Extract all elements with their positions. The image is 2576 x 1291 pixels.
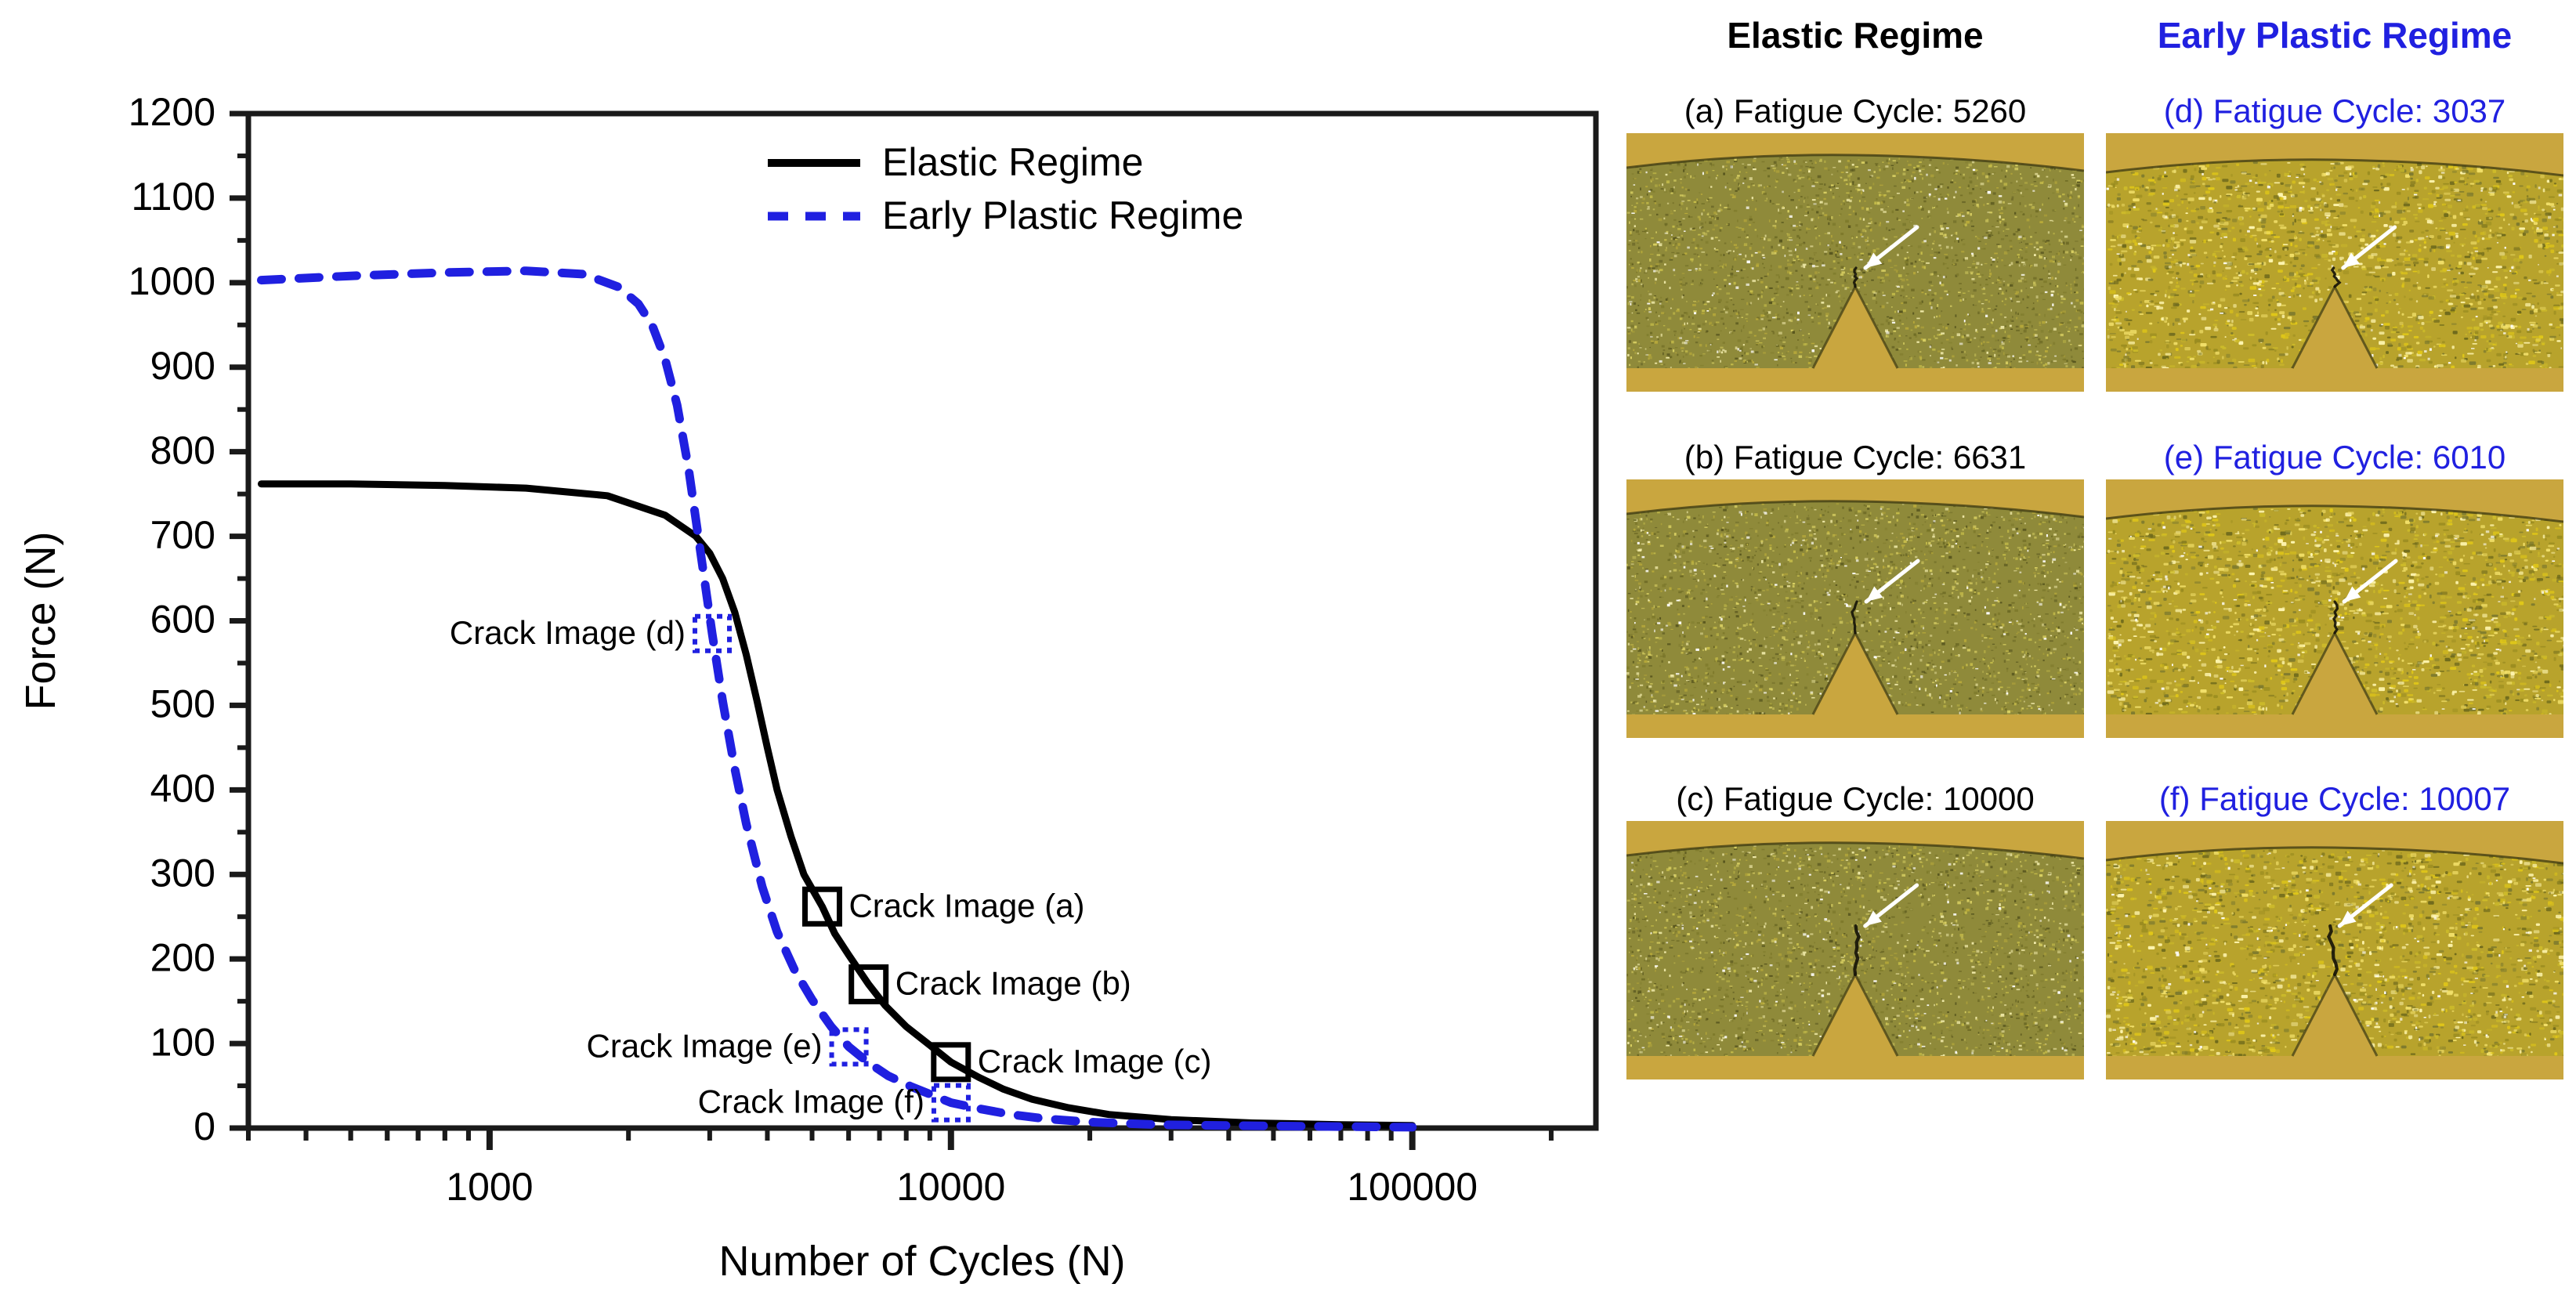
column-heading-early-plastic-regime: Early Plastic Regime <box>2100 14 2570 56</box>
y-tick-label: 300 <box>150 851 215 895</box>
crack-image-a-label: Crack Image (a) <box>848 887 1084 924</box>
x-axis-title: Number of Cycles (N) <box>718 1238 1125 1285</box>
crack-image-f-label: Crack Image (f) <box>698 1083 924 1120</box>
legend-label-early-plastic: Early Plastic Regime <box>882 193 1243 237</box>
micrograph-caption: (c) Fatigue Cycle: 10000 <box>1620 780 2090 818</box>
y-tick-label: 1200 <box>128 90 215 134</box>
y-tick-label: 800 <box>150 429 215 472</box>
micrograph-caption: (e) Fatigue Cycle: 6010 <box>2100 439 2570 476</box>
x-tick-label: 100000 <box>1347 1165 1478 1209</box>
micrograph-image <box>2106 479 2563 738</box>
crack-image-b-label: Crack Image (b) <box>895 965 1131 1002</box>
legend-label-elastic: Elastic Regime <box>882 140 1143 184</box>
micrograph-caption: (a) Fatigue Cycle: 5260 <box>1620 92 2090 130</box>
y-axis-title: Force (N) <box>17 532 64 711</box>
micrograph-image <box>1626 821 2084 1079</box>
micrograph-image <box>2106 133 2563 392</box>
column-heading-elastic-regime: Elastic Regime <box>1620 14 2090 56</box>
micrograph-panel: Elastic RegimeEarly Plastic Regime(a) Fa… <box>1614 0 2576 1291</box>
y-tick-label: 200 <box>150 935 215 979</box>
micrograph-image <box>2106 821 2563 1079</box>
crack-image-d-label: Crack Image (d) <box>450 614 686 651</box>
micrograph-image <box>1626 133 2084 392</box>
y-tick-label: 600 <box>150 598 215 642</box>
series-early-plastic <box>262 271 1413 1127</box>
y-tick-label: 500 <box>150 682 215 726</box>
micrograph-image <box>1626 479 2084 738</box>
crack-image-e-label: Crack Image (e) <box>586 1027 822 1064</box>
x-tick-label: 1000 <box>446 1165 533 1209</box>
y-tick-label: 100 <box>150 1020 215 1064</box>
x-tick-label: 10000 <box>896 1165 1005 1209</box>
micrograph-caption: (f) Fatigue Cycle: 10007 <box>2100 780 2570 818</box>
crack-image-c-label: Crack Image (c) <box>978 1043 1212 1079</box>
micrograph-caption: (b) Fatigue Cycle: 6631 <box>1620 439 2090 476</box>
figure-root: 0100200300400500600700800900100011001200… <box>0 0 2576 1291</box>
fatigue-chart-panel: 0100200300400500600700800900100011001200… <box>0 0 1614 1291</box>
y-tick-label: 400 <box>150 767 215 811</box>
y-tick-label: 900 <box>150 344 215 388</box>
y-tick-label: 1100 <box>131 175 215 219</box>
y-tick-label: 0 <box>194 1105 215 1148</box>
micrograph-caption: (d) Fatigue Cycle: 3037 <box>2100 92 2570 130</box>
y-tick-label: 700 <box>150 513 215 557</box>
y-tick-label: 1000 <box>128 259 215 303</box>
fatigue-chart: 0100200300400500600700800900100011001200… <box>0 0 1614 1291</box>
